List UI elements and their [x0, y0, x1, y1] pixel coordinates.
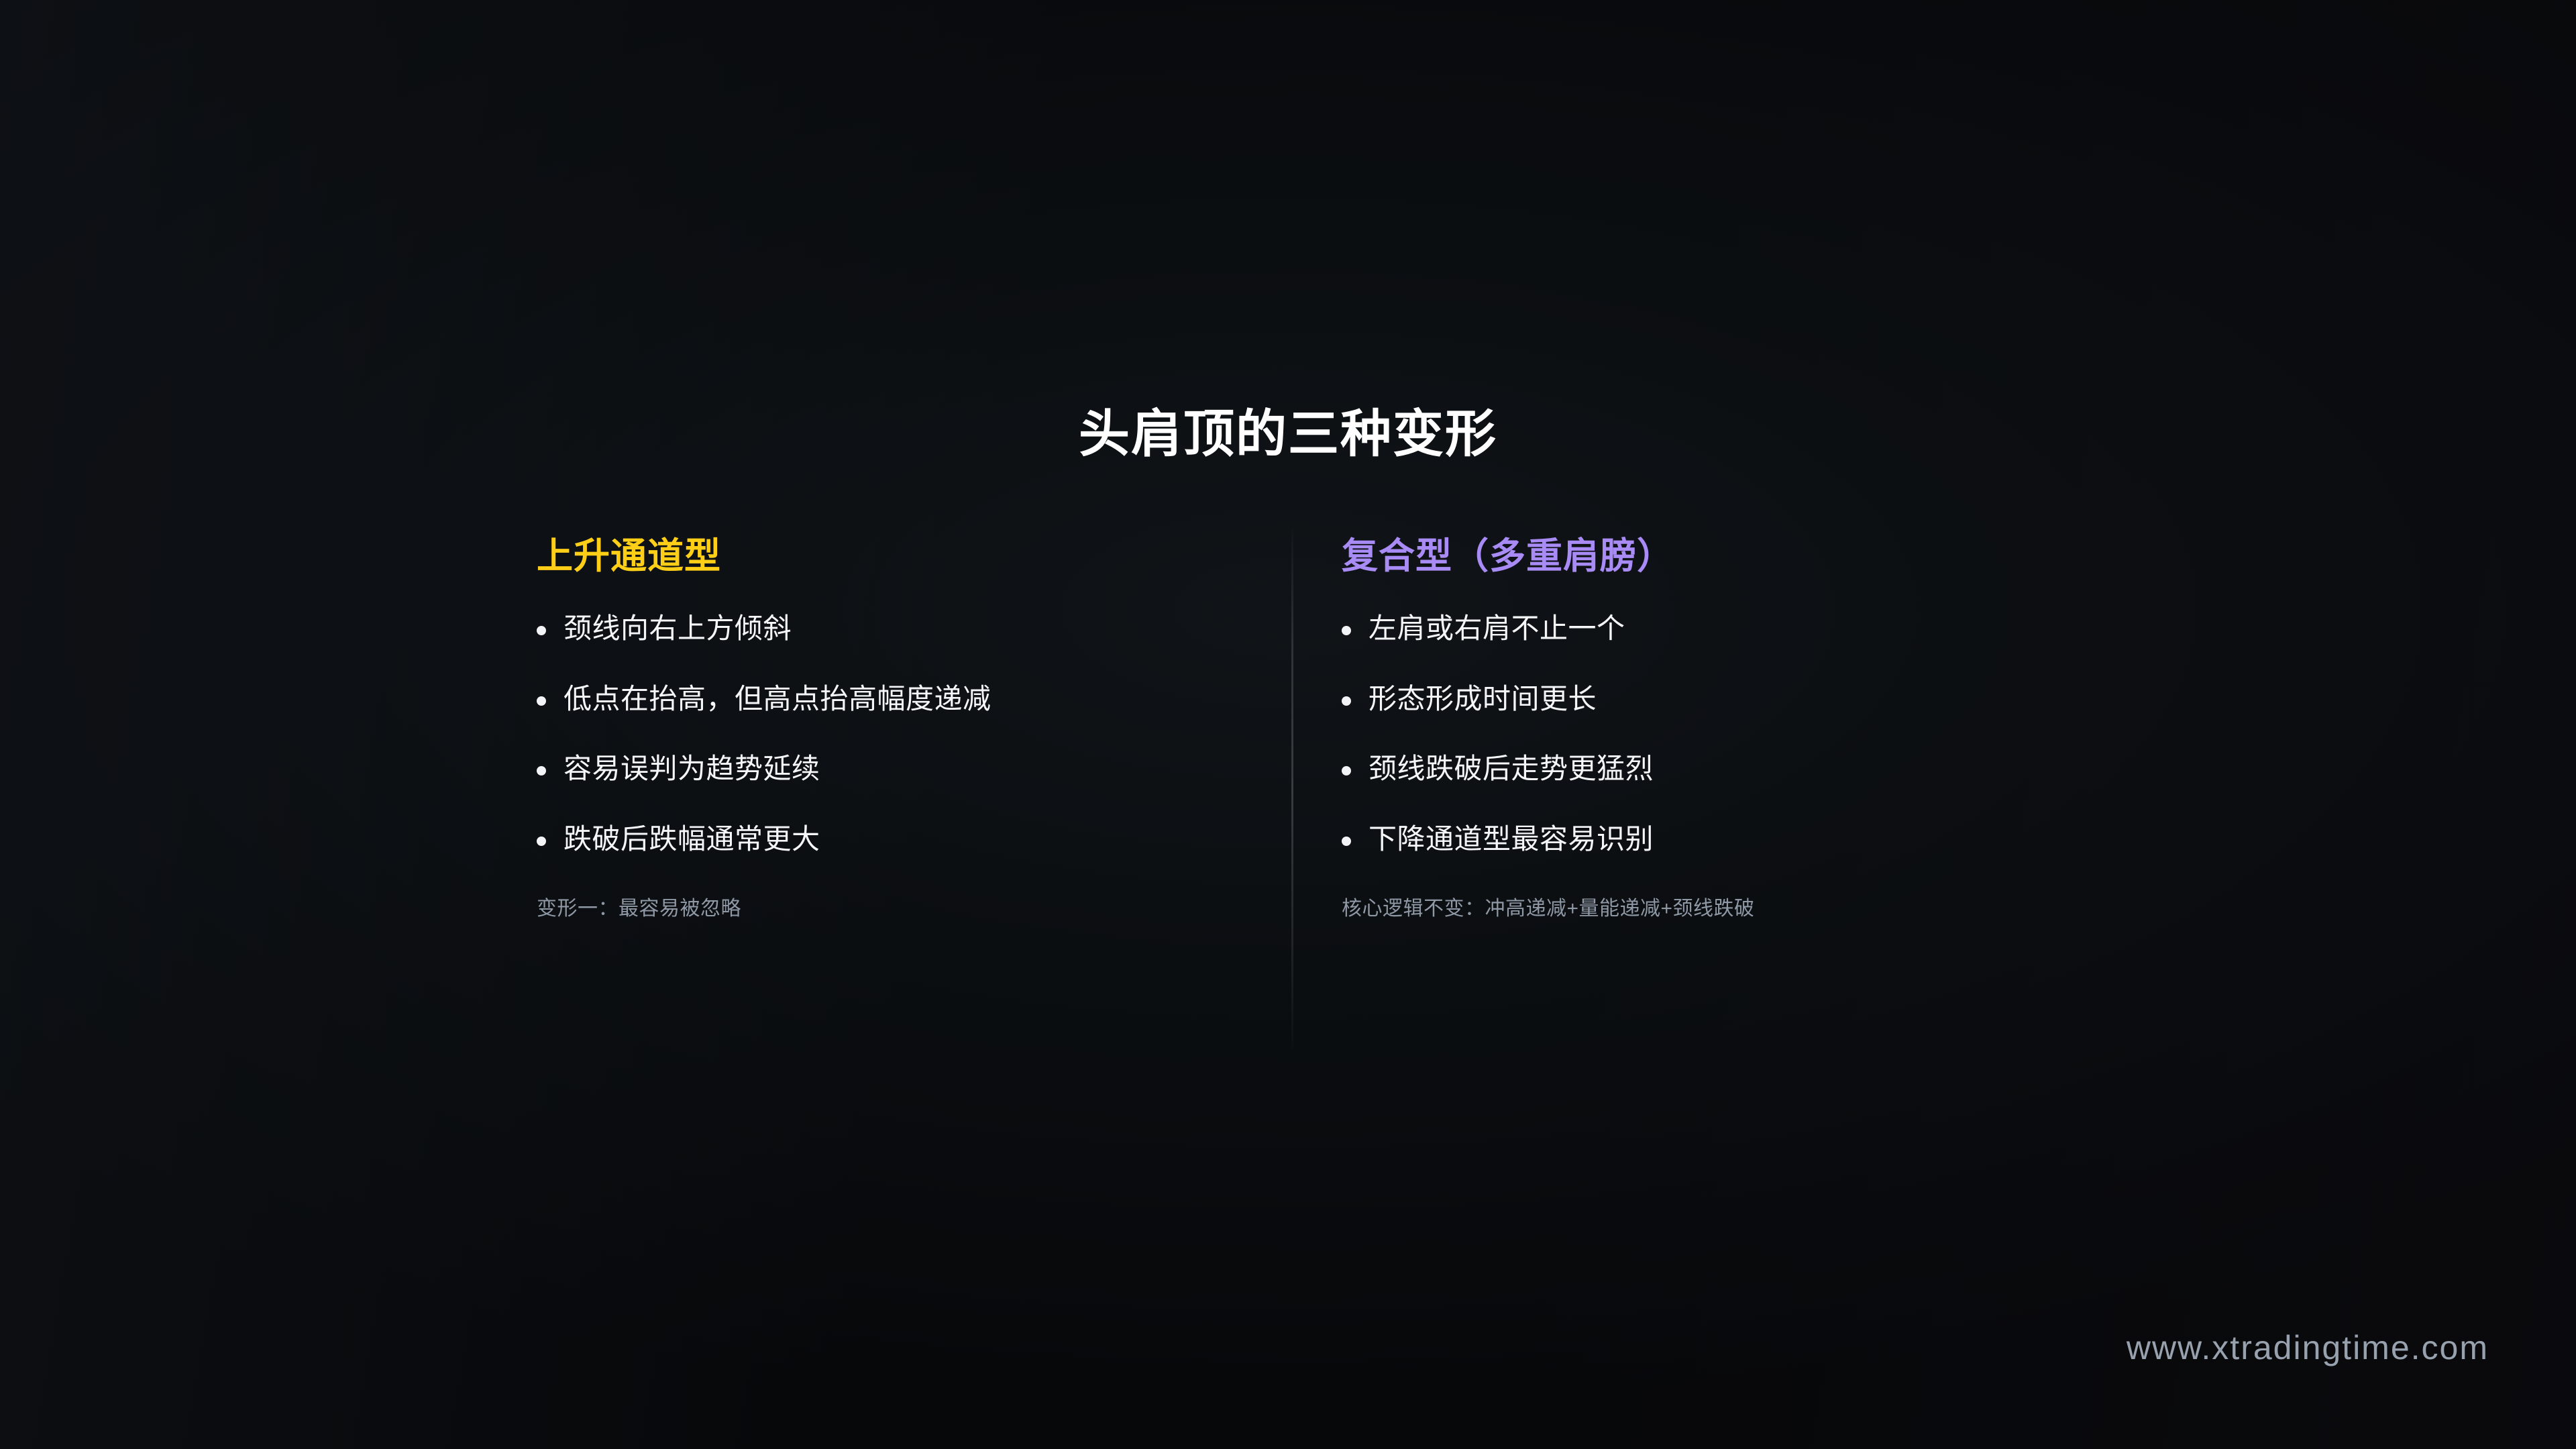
bullet-text: 形态形成时间更长	[1368, 682, 1597, 717]
bullet-dot-icon	[537, 837, 546, 846]
list-item: 形态形成时间更长	[1342, 682, 2133, 717]
bullet-text: 跌破后跌幅通常更大	[563, 822, 820, 857]
column-note-right: 核心逻辑不变：冲高递减+量能递减+颈线跌破	[1342, 892, 2133, 921]
bullet-dot-icon	[1342, 696, 1351, 706]
column-note-left: 变形一：最容易被忽略	[537, 892, 1328, 921]
column-complex-multiple-shoulders: 复合型（多重肩膀） 左肩或右肩不止一个 形态形成时间更长 颈线跌破后走势更猛烈 …	[1342, 537, 2133, 921]
list-item: 颈线向右上方倾斜	[537, 611, 1328, 647]
column-divider	[1291, 529, 1293, 1049]
list-item: 容易误判为趋势延续	[537, 751, 1328, 787]
bullet-text: 颈线向右上方倾斜	[563, 611, 792, 647]
bullet-text: 颈线跌破后走势更猛烈	[1368, 751, 1654, 787]
bullet-dot-icon	[537, 626, 546, 635]
bullet-dot-icon	[537, 766, 546, 775]
bullet-list-left: 颈线向右上方倾斜 低点在抬高，但高点抬高幅度递减 容易误判为趋势延续 跌破后跌幅…	[537, 611, 1328, 857]
list-item: 下降通道型最容易识别	[1342, 822, 2133, 857]
slide-canvas: 头肩顶的三种变形 上升通道型 颈线向右上方倾斜 低点在抬高，但高点抬高幅度递减 …	[0, 0, 2576, 1449]
list-item: 低点在抬高，但高点抬高幅度递减	[537, 682, 1328, 717]
bullet-list-right: 左肩或右肩不止一个 形态形成时间更长 颈线跌破后走势更猛烈 下降通道型最容易识别	[1342, 611, 2133, 857]
bullet-text: 左肩或右肩不止一个	[1368, 611, 1625, 647]
bullet-text: 容易误判为趋势延续	[563, 751, 820, 787]
bullet-dot-icon	[537, 696, 546, 706]
column-heading-left: 上升通道型	[537, 537, 1328, 576]
column-heading-right: 复合型（多重肩膀）	[1342, 537, 2133, 576]
comparison-columns: 上升通道型 颈线向右上方倾斜 低点在抬高，但高点抬高幅度递减 容易误判为趋势延续…	[0, 0, 2576, 1449]
watermark-url: www.xtradingtime.com	[2127, 1328, 2489, 1367]
bullet-dot-icon	[1342, 766, 1351, 775]
list-item: 左肩或右肩不止一个	[1342, 611, 2133, 647]
bullet-text: 低点在抬高，但高点抬高幅度递减	[563, 682, 991, 717]
column-ascending-channel: 上升通道型 颈线向右上方倾斜 低点在抬高，但高点抬高幅度递减 容易误判为趋势延续…	[537, 537, 1328, 921]
bullet-dot-icon	[1342, 837, 1351, 846]
bullet-text: 下降通道型最容易识别	[1368, 822, 1654, 857]
list-item: 颈线跌破后走势更猛烈	[1342, 751, 2133, 787]
list-item: 跌破后跌幅通常更大	[537, 822, 1328, 857]
bullet-dot-icon	[1342, 626, 1351, 635]
